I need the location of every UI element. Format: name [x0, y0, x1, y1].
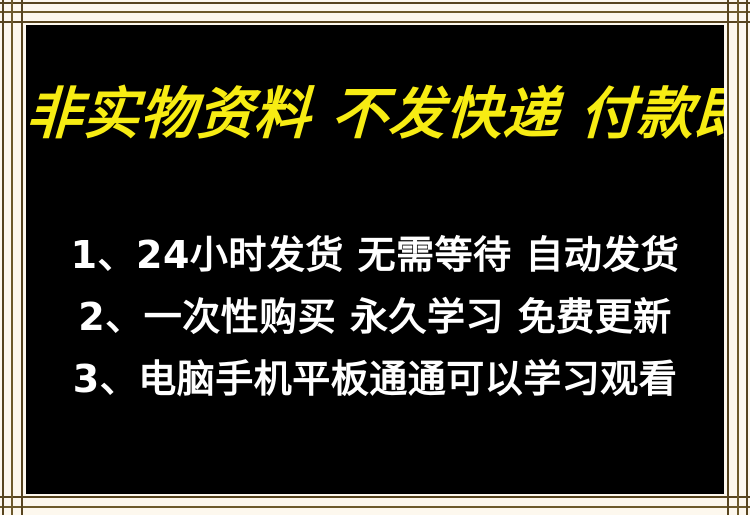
frame-rule-right-outer: [746, 0, 748, 515]
frame-rule-left-middle: [11, 0, 13, 515]
frame-rule-left-outer: [2, 0, 4, 515]
frame-rule-top-inner: [0, 21, 750, 23]
list-item: 1、24小时发货 无需等待 自动发货: [26, 225, 724, 285]
bullet-list: 1、24小时发货 无需等待 自动发货 2、一次性购买 永久学习 免费更新 3、电…: [26, 219, 724, 409]
content-panel: 非实物资料 不发快递 付款即看 1、24小时发货 无需等待 自动发货 2、一次性…: [26, 25, 724, 494]
frame-rule-bottom-inner: [0, 496, 750, 498]
frame-rule-top-middle: [0, 11, 750, 13]
frame-rule-top-outer: [0, 2, 750, 4]
list-item: 2、一次性购买 永久学习 免费更新: [26, 287, 724, 347]
promo-poster: 非实物资料 不发快递 付款即看 1、24小时发货 无需等待 自动发货 2、一次性…: [0, 0, 750, 515]
frame-rule-right-inner: [727, 0, 729, 515]
frame-rule-bottom-outer: [0, 506, 750, 508]
frame-rule-right-middle: [737, 0, 739, 515]
list-item: 3、电脑手机平板通通可以学习观看: [26, 349, 724, 409]
headline-text: 非实物资料 不发快递 付款即看: [26, 83, 724, 147]
frame-rule-left-inner: [21, 0, 23, 515]
